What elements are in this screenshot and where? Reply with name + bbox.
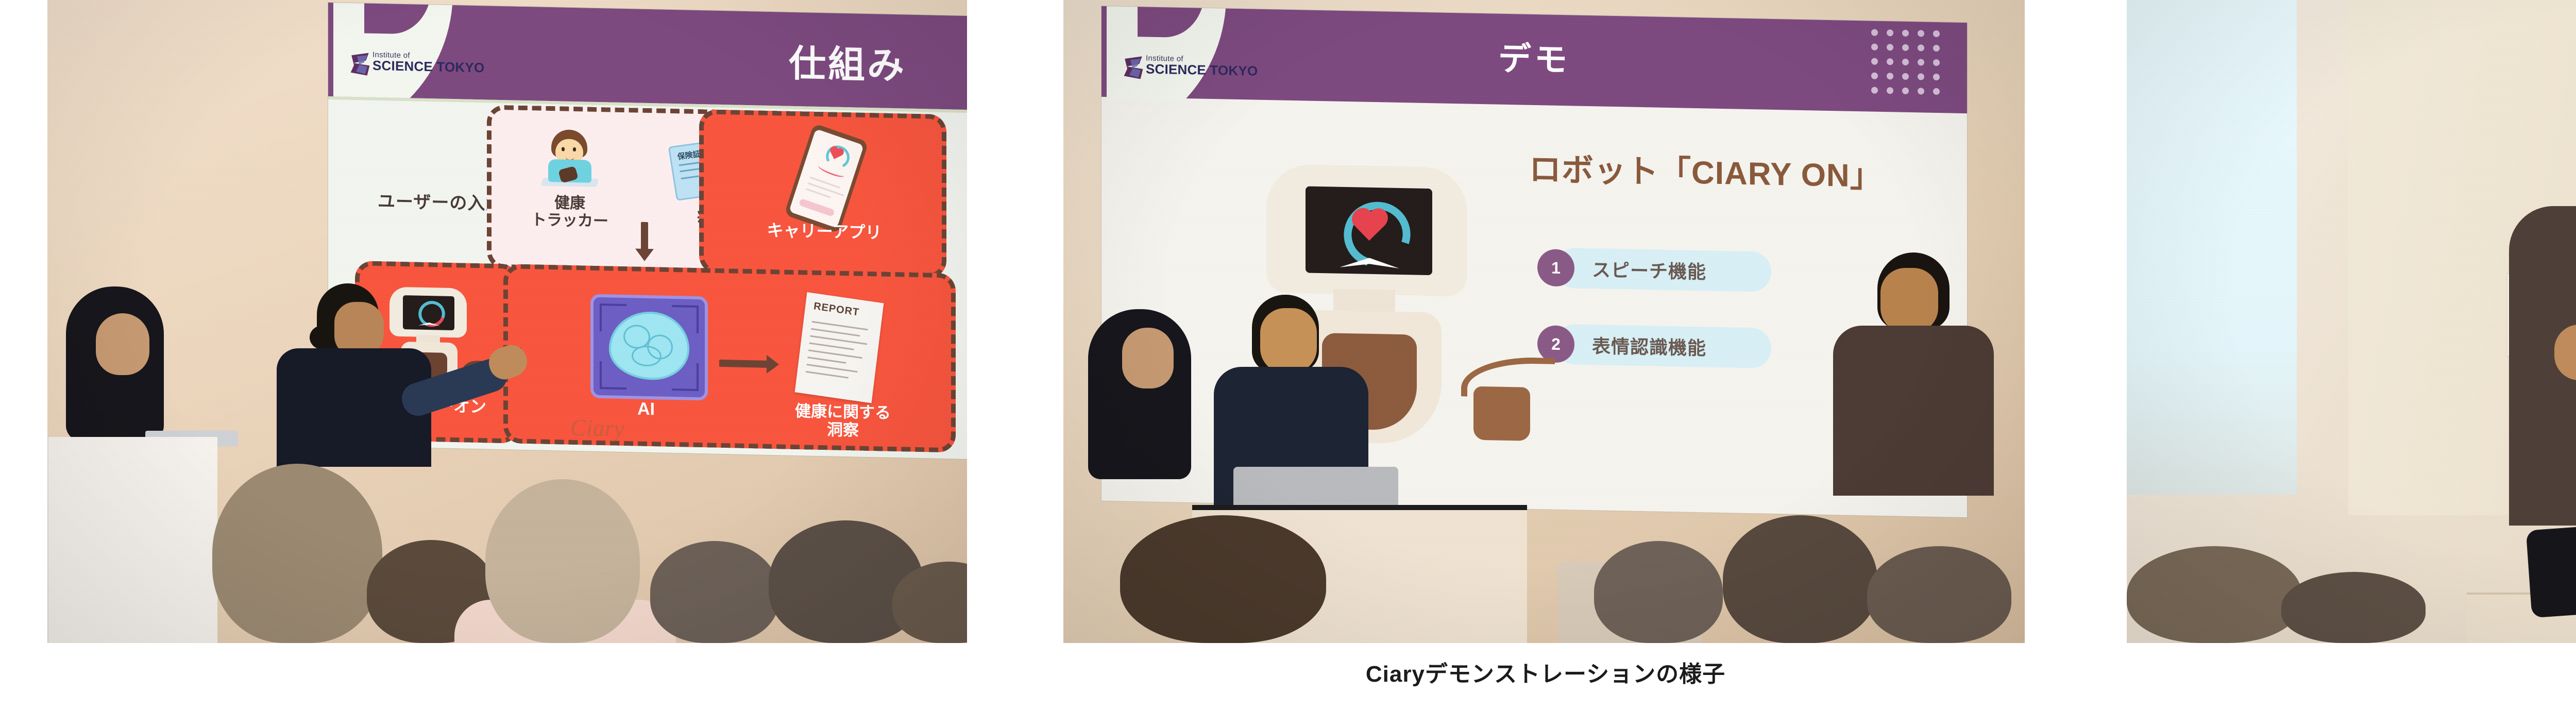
audience-head: [1723, 515, 1877, 643]
slide-header-bar: Institute of SCIENCE TOKYO 仕組み: [328, 3, 967, 110]
slide-title: デモ: [1498, 32, 1570, 81]
laptop: [1233, 467, 1398, 507]
report-icon: REPORT: [795, 292, 884, 403]
arrow-right-icon-2: [719, 360, 769, 368]
science-tokyo-logo-swoop: [333, 3, 503, 100]
audience-head: [485, 479, 640, 643]
insurance-card-text: 保険証: [676, 148, 701, 162]
person-at-desk-icon: [539, 129, 601, 191]
diagram-side-label: ユーザーの入力: [378, 187, 503, 215]
figure-caption: Ciaryデモンストレーションの様子: [0, 655, 2576, 688]
photo-presentation-demo: Institute of SCIENCE TOKYO デモ ロボット「CIARY…: [1063, 0, 2025, 643]
audience-head: [1594, 541, 1723, 643]
logo-line-2: SCIENCE TOKYO: [1146, 62, 1258, 78]
feature-item-1: 1 スピーチ機能: [1555, 248, 1771, 292]
presenter-man-right: [1821, 252, 2006, 495]
logo-line-2: SCIENCE TOKYO: [372, 59, 484, 75]
decorative-dot-grid: [1871, 29, 1948, 103]
podium: [47, 437, 217, 643]
audience-head: [212, 464, 382, 643]
feature-item-2: 2 表情認識機能: [1555, 324, 1771, 368]
node-label-health-insights: 健康に関する洞察: [766, 402, 920, 441]
feature-number-badge: 1: [1537, 249, 1574, 286]
feature-label: 表情認識機能: [1592, 331, 1706, 360]
arrow-down-icon: [641, 222, 648, 251]
smartphone-icon: [784, 123, 869, 233]
audience-head: [2127, 546, 2302, 643]
audience-head: [1120, 515, 1326, 643]
brain-chip-icon: [590, 294, 708, 401]
feature-label: スピーチ機能: [1592, 255, 1706, 284]
photo-presentation-mechanism: Institute of SCIENCE TOKYO 仕組み ユーザーの入力 健…: [47, 0, 967, 643]
audience-head: [650, 541, 779, 643]
slide-heading: ロボット「CIARY ON」: [1529, 143, 1883, 196]
report-title-text: REPORT: [813, 300, 860, 319]
node-label-health-tracker: 健康トラッカー: [518, 194, 621, 230]
node-label-carry-app: キャリーアプリ: [726, 221, 922, 243]
presenter-standing: [2498, 98, 2576, 526]
photo-presenter-with-robot: [2127, 0, 2576, 643]
science-tokyo-logo-text: Institute of SCIENCE TOKYO: [372, 51, 484, 75]
projection-screen: [2127, 0, 2297, 495]
audience-head: [1867, 546, 2011, 643]
science-tokyo-logo-mark: [1123, 56, 1144, 79]
slide-watermark: Ciary: [570, 414, 624, 442]
presenter-man-pointing: [256, 278, 478, 464]
audience-head: [2281, 572, 2426, 643]
slide-title: 仕組み: [789, 33, 906, 90]
science-tokyo-logo-swoop: [1107, 6, 1277, 103]
science-tokyo-logo-text: Institute of SCIENCE TOKYO: [1146, 55, 1258, 78]
science-tokyo-logo-mark: [350, 53, 370, 76]
presenter-woman: [1083, 309, 1201, 479]
diagram-group-carry-app: キャリーアプリ: [699, 109, 946, 278]
photo-strip: Institute of SCIENCE TOKYO 仕組み ユーザーの入力 健…: [0, 0, 2576, 710]
slide-header-bar: Institute of SCIENCE TOKYO デモ: [1101, 6, 1967, 113]
